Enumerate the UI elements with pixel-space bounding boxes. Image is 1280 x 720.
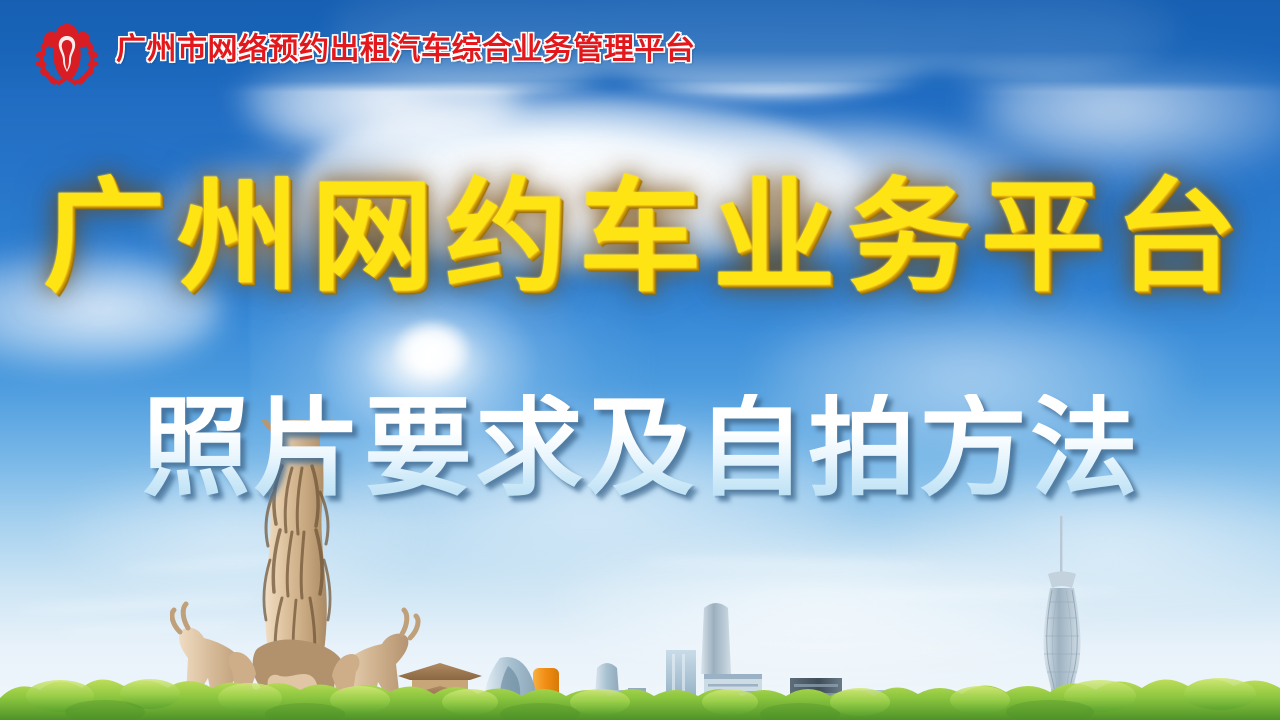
header-title: 广州市网络预约出租汽车综合业务管理平台 (116, 24, 696, 68)
page-subtitle: 照片要求及自拍方法 (0, 394, 1280, 502)
ifc-tower-building (701, 603, 731, 674)
tree-canopy (0, 668, 1280, 720)
sun-core-icon (392, 318, 472, 384)
page-title: 广州网约车业务平台 (0, 176, 1280, 298)
banner-stage: 广州网约车业务平台 照片要求及自拍方法 (0, 0, 1280, 720)
header-bar: 广州市网络预约出租汽车综合业务管理平台 (0, 0, 1280, 92)
guangzhou-city-emblem-icon (30, 18, 104, 88)
